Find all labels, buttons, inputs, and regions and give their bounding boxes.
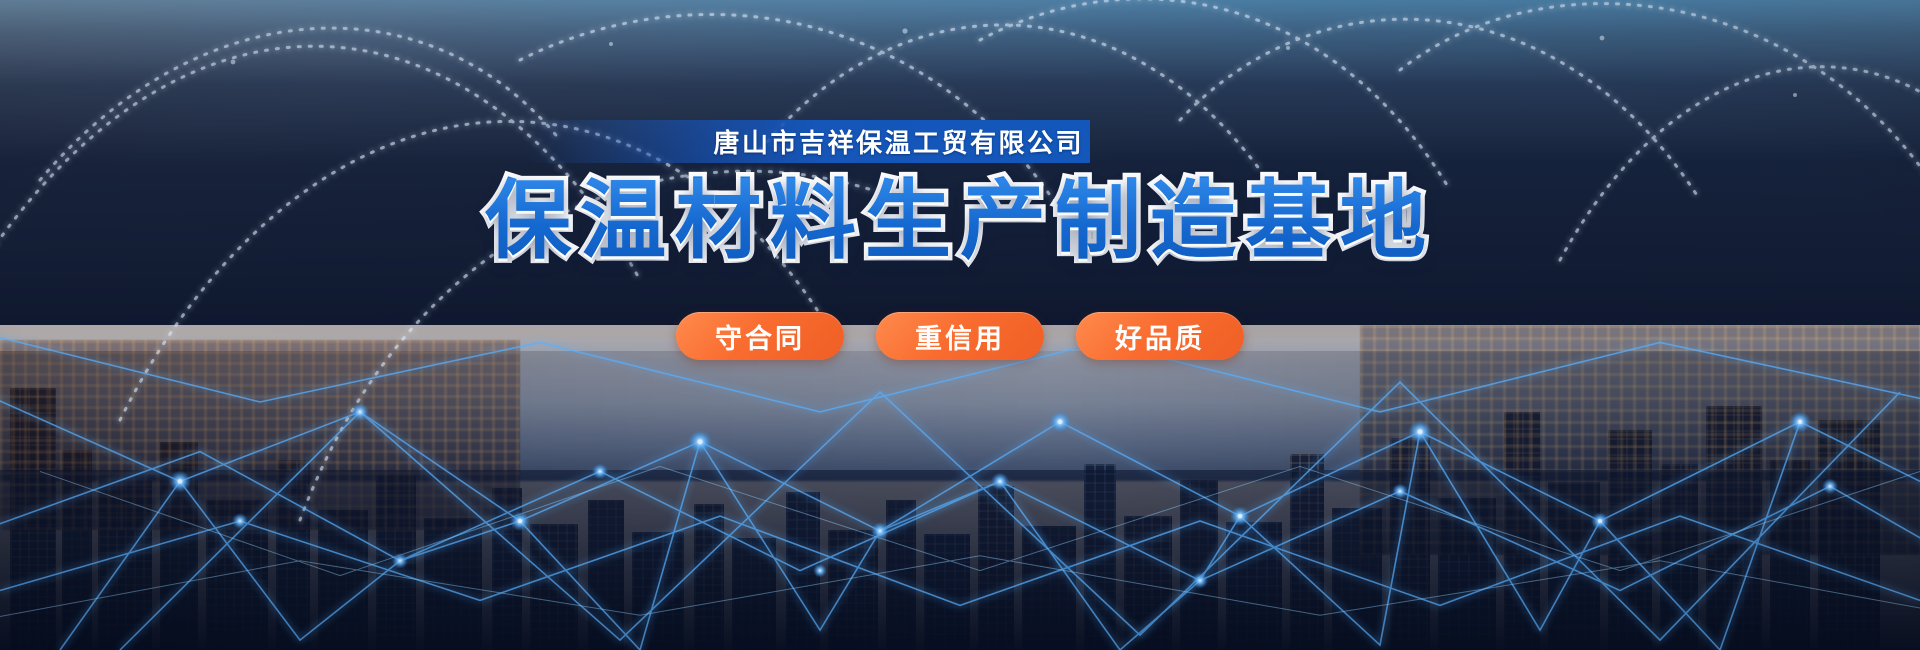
pill-zhong-xin-yong[interactable]: 重信用 (876, 312, 1044, 360)
pill-label: 重信用 (915, 317, 1005, 356)
pill-label: 守合同 (715, 317, 805, 356)
feature-pill-group: 守合同 重信用 好品质 (0, 312, 1920, 360)
banner-content: 唐山市吉祥保温工贸有限公司 保温材料生产制造基地 保温材料生产制造基地 守合同 … (0, 0, 1920, 650)
hero-banner: 唐山市吉祥保温工贸有限公司 保温材料生产制造基地 保温材料生产制造基地 守合同 … (0, 0, 1920, 650)
headline-wrap: 保温材料生产制造基地 保温材料生产制造基地 (485, 178, 1435, 264)
pill-label: 好品质 (1115, 317, 1205, 356)
company-name-bar: 唐山市吉祥保温工贸有限公司 (525, 120, 1090, 163)
company-name-text: 唐山市吉祥保温工贸有限公司 (713, 123, 1084, 160)
headline-block: 保温材料生产制造基地 保温材料生产制造基地 (0, 178, 1920, 264)
pill-shou-he-tong[interactable]: 守合同 (676, 312, 844, 360)
pill-hao-pin-zhi[interactable]: 好品质 (1076, 312, 1244, 360)
headline-outline-text: 保温材料生产制造基地 (485, 178, 1435, 264)
